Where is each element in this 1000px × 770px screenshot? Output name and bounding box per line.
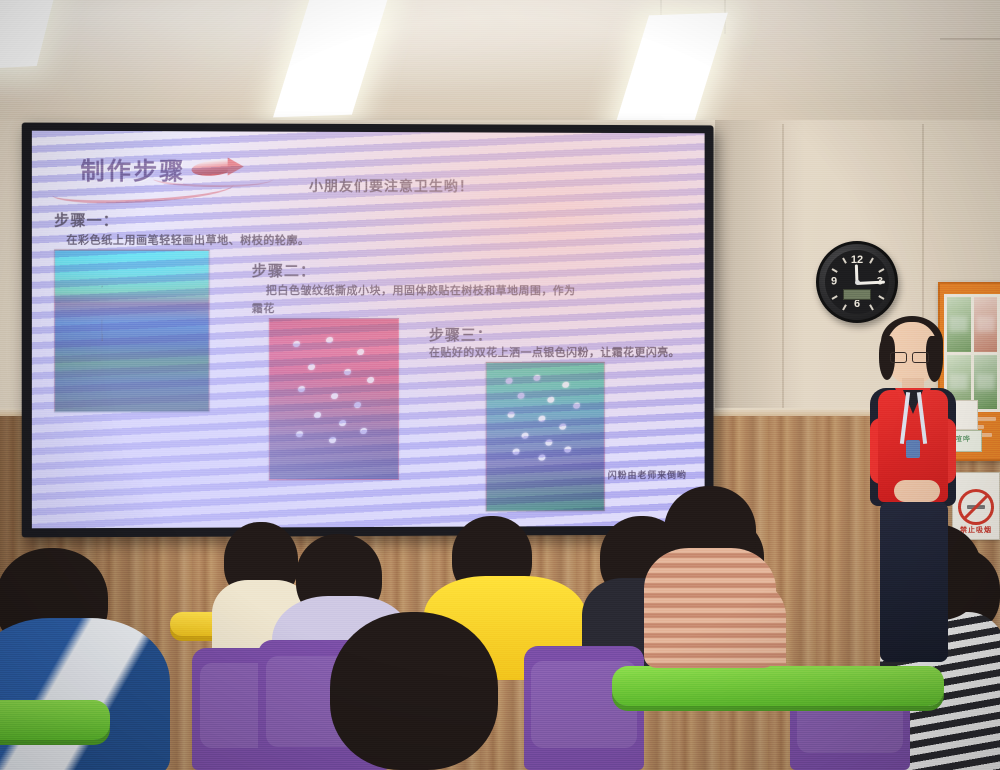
glasses-icon — [912, 352, 929, 363]
wall-clock: 12 3 6 9 — [816, 241, 898, 323]
classroom-scene: 12 3 6 9 禁止喧哗 禁止吸烟 — [0, 0, 1000, 770]
student-table-green — [0, 700, 110, 740]
teacher-legs — [880, 502, 948, 662]
slide-content: 制作步骤 小朋友们要注意卫生哟！ 步骤一： 在彩色纸上用画笔轻轻画出草地、树枝的… — [32, 131, 705, 529]
teacher-hands — [894, 480, 940, 502]
clock-center-pin — [855, 280, 860, 285]
step-2-body: 把白色皱纹纸撕成小块，用固体胶贴在树枝和草地周围，作为 — [266, 282, 576, 298]
projection-screen: 制作步骤 小朋友们要注意卫生哟！ 步骤一： 在彩色纸上用画笔轻轻画出草地、树枝的… — [22, 123, 714, 538]
step-3-body: 在贴好的双花上洒一点银色闪粉，让霜花更闪亮。 — [429, 344, 680, 360]
clock-number-6: 6 — [854, 299, 860, 310]
clock-number-9: 9 — [831, 277, 837, 288]
board-photo — [974, 297, 998, 352]
step-1-heading: 步骤一： — [54, 209, 119, 230]
glitter-note: 闪粉由老师来倒哟 — [608, 468, 687, 481]
student-table-green — [612, 666, 944, 706]
step-1-body: 在彩色纸上用画笔轻轻画出草地、树枝的轮廓。 — [66, 231, 309, 247]
step-3-image — [486, 362, 605, 512]
step-2-body-cont: 霜花 — [252, 300, 275, 316]
step-2-heading: 步骤二： — [252, 260, 316, 281]
step-1-image — [54, 249, 209, 412]
ceiling — [0, 0, 1000, 132]
teacher — [862, 322, 972, 672]
student-chair — [524, 646, 644, 770]
hygiene-notice: 小朋友们要注意卫生哟！ — [309, 176, 474, 196]
clock-face: 12 3 6 9 — [825, 250, 889, 314]
id-badge — [906, 440, 920, 458]
clock-date-window — [843, 289, 871, 300]
step-2-image — [269, 318, 399, 480]
step-3-heading: 步骤三： — [429, 324, 493, 345]
projected-slide: 制作步骤 小朋友们要注意卫生哟！ 步骤一： 在彩色纸上用画笔轻轻画出草地、树枝的… — [32, 131, 705, 529]
glasses-icon — [890, 352, 907, 363]
wall-seam — [782, 124, 784, 424]
